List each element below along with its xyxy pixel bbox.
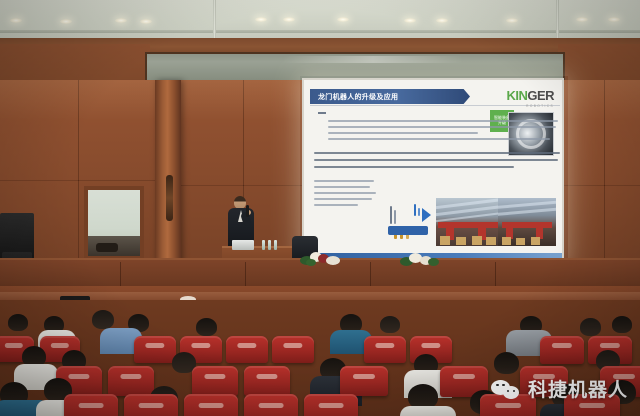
microphone: [246, 205, 249, 217]
product-ring: [516, 119, 546, 149]
seat[interactable]: [364, 336, 406, 363]
seat[interactable]: [226, 336, 268, 363]
seat[interactable]: [244, 366, 290, 396]
logo-text-secondary: GER: [527, 88, 554, 103]
downlight-icon: [404, 18, 416, 23]
seat[interactable]: [108, 366, 154, 396]
downlight-icon: [506, 18, 518, 23]
slide-text-line: [314, 186, 370, 188]
laptop: [232, 240, 254, 250]
water-bottles: [262, 240, 280, 250]
downlight-icon: [576, 17, 588, 22]
audience-member: [92, 310, 114, 329]
downlight-icon: [283, 17, 295, 22]
slide-text-line: [314, 198, 372, 200]
slide-text-line: [328, 120, 558, 122]
slide-text-line: [314, 204, 358, 206]
bottle: [268, 240, 271, 250]
booth-equipment: [96, 243, 118, 252]
audience-torso: [400, 406, 456, 416]
downlight-icon: [436, 18, 448, 23]
seat[interactable]: [184, 394, 238, 416]
bottle: [262, 240, 265, 250]
slide-text-line: [328, 138, 550, 140]
bottle: [274, 240, 277, 250]
slide-text-line: [314, 180, 374, 182]
flower-arrangement: [300, 250, 342, 266]
flower-arrangement: [400, 252, 440, 268]
diagram-arrow-icon: [422, 208, 431, 222]
screenshot-canvas: 龙门机器人的升级及应用 KINGER ROBOTICS 智能装备 升级: [0, 0, 640, 416]
watermark-text: 科捷机器人: [528, 375, 628, 402]
diagram-bar: [394, 210, 396, 224]
logo-subtitle: ROBOTICS: [506, 105, 554, 108]
downlight-icon: [115, 18, 127, 23]
slide-text-line: [314, 152, 560, 154]
downlight-icon: [255, 17, 267, 22]
audience-member: [380, 316, 400, 333]
pillar-fixture: [166, 175, 173, 221]
seat[interactable]: [192, 366, 238, 396]
audience-member: [580, 318, 601, 336]
slide-title-bar: 龙门机器人的升级及应用: [310, 89, 470, 104]
channel-watermark: 科捷机器人: [491, 375, 628, 402]
downlight-icon: [608, 17, 620, 22]
audience-member: [196, 318, 217, 336]
slide-title: 龙门机器人的升级及应用: [318, 92, 398, 102]
audience-member: [8, 314, 28, 331]
diagram-bar: [418, 208, 420, 216]
downlight-icon: [60, 19, 72, 24]
slide-text-line: [314, 192, 376, 194]
badge-line-2: 升级: [498, 121, 506, 126]
seat[interactable]: [340, 366, 388, 396]
downlight-icon: [337, 17, 349, 22]
logo-text-primary: KIN: [506, 88, 527, 103]
kinger-logo: KINGER ROBOTICS: [506, 88, 554, 108]
downlight-icon: [10, 18, 22, 23]
seat[interactable]: [304, 394, 358, 416]
audience-member: [612, 316, 632, 333]
seat[interactable]: [272, 336, 314, 363]
seat[interactable]: [124, 394, 178, 416]
diagram-bar: [414, 204, 416, 216]
audience-member: [494, 352, 519, 374]
slide-text-line: [328, 132, 478, 134]
seat[interactable]: [134, 336, 176, 363]
seat[interactable]: [244, 394, 298, 416]
seat[interactable]: [64, 394, 118, 416]
slide-photo-factory-1: [436, 198, 500, 246]
paragraph-marker: [318, 112, 326, 114]
slide-text-line: [314, 159, 558, 161]
diagram-label-box: [388, 226, 428, 235]
downlight-icon: [140, 19, 152, 24]
slide-photo-factory-2: [498, 198, 556, 246]
wechat-icon: [491, 377, 521, 401]
slide-product-thumbnail: [508, 112, 554, 156]
ceiling-seam: [0, 30, 640, 33]
diagram-bar: [390, 206, 392, 224]
projection-screen: 龙门机器人的升级及应用 KINGER ROBOTICS 智能装备 升级: [302, 78, 564, 264]
glass-glare: [283, 56, 463, 63]
slide-text-line: [314, 166, 514, 168]
slide-text-line: [328, 126, 556, 128]
seat[interactable]: [540, 336, 584, 364]
